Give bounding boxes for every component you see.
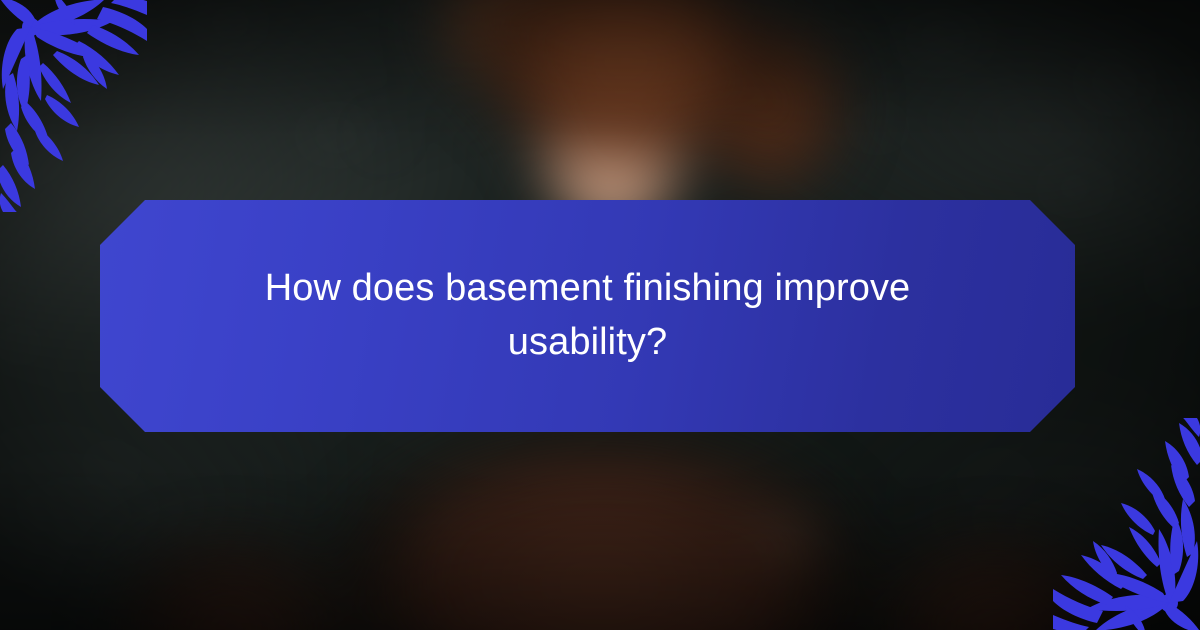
title-banner: How does basement finishing improve usab… [100, 200, 1075, 432]
social-card: How does basement finishing improve usab… [0, 0, 1200, 630]
page-title: How does basement finishing improve usab… [238, 262, 938, 370]
